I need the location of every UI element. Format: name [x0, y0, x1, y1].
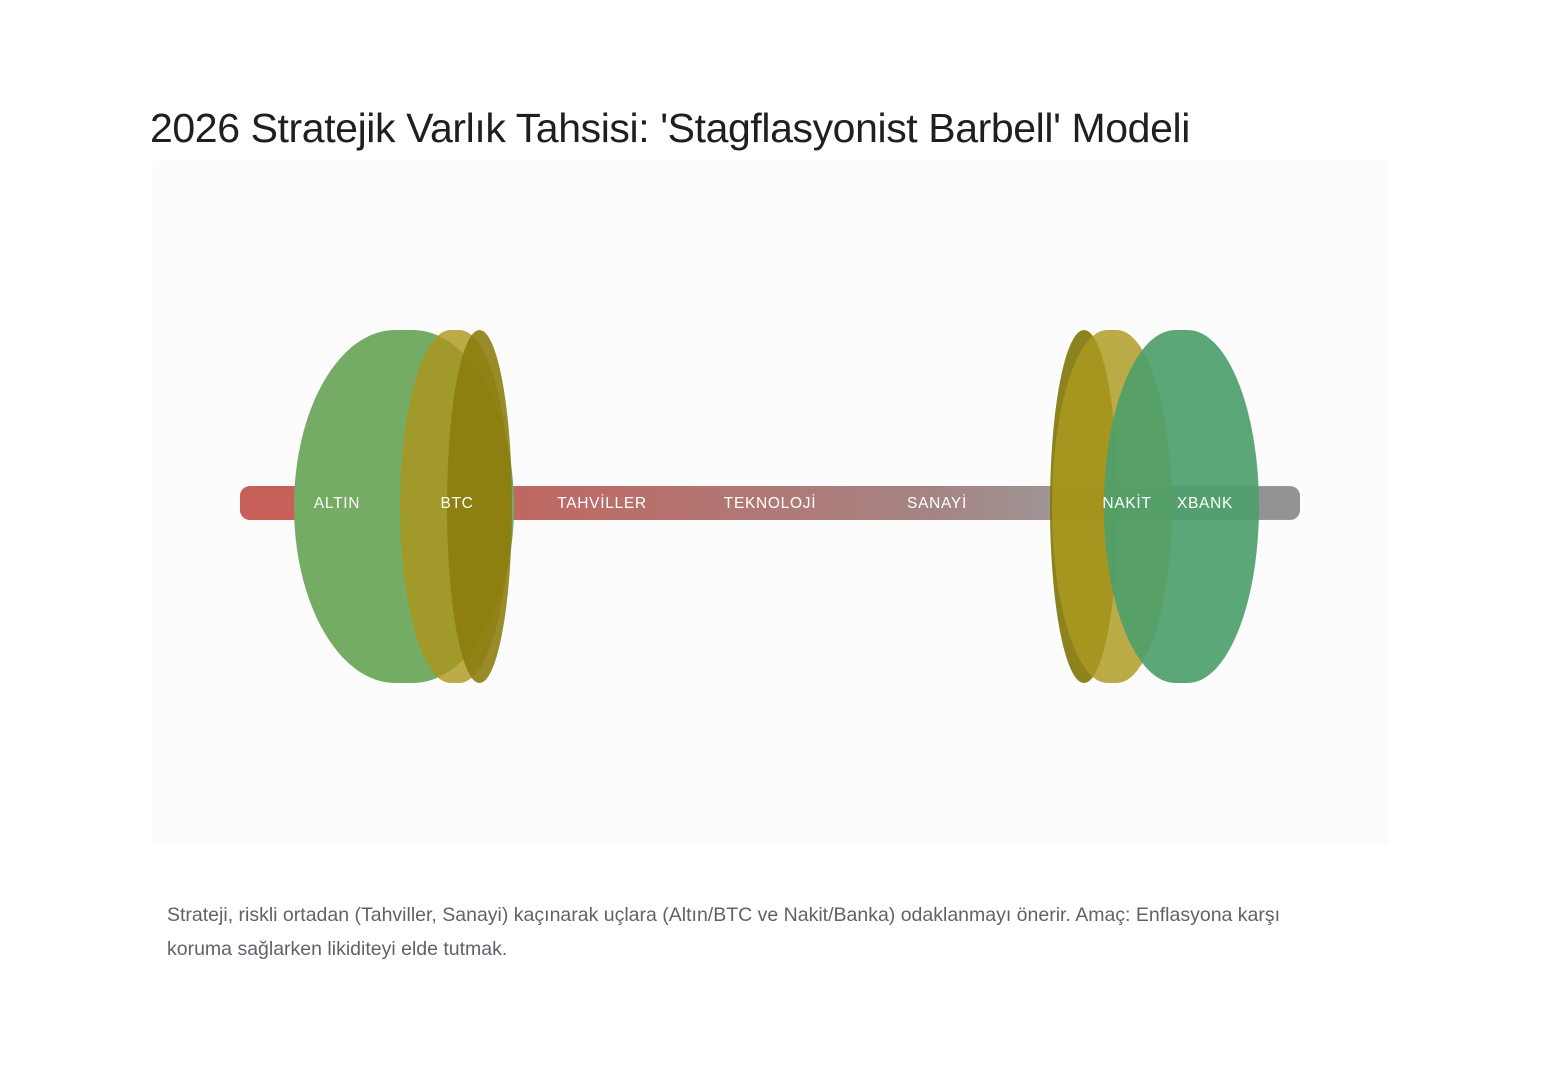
plate-xbank: [1104, 330, 1259, 683]
plate-btc-face: [447, 330, 512, 683]
chart-caption: Strateji, riskli ortadan (Tahviller, San…: [167, 898, 1287, 966]
page-root: 2026 Stratejik Varlık Tahsisi: 'Stagflas…: [0, 0, 1562, 1084]
barbell-diagram: ALTIN BTC TAHVİLLER TEKNOLOJİ SANAYİ NAK…: [152, 160, 1390, 846]
chart-panel: ALTIN BTC TAHVİLLER TEKNOLOJİ SANAYİ NAK…: [152, 160, 1390, 846]
page-title: 2026 Stratejik Varlık Tahsisi: 'Stagflas…: [150, 101, 1390, 155]
